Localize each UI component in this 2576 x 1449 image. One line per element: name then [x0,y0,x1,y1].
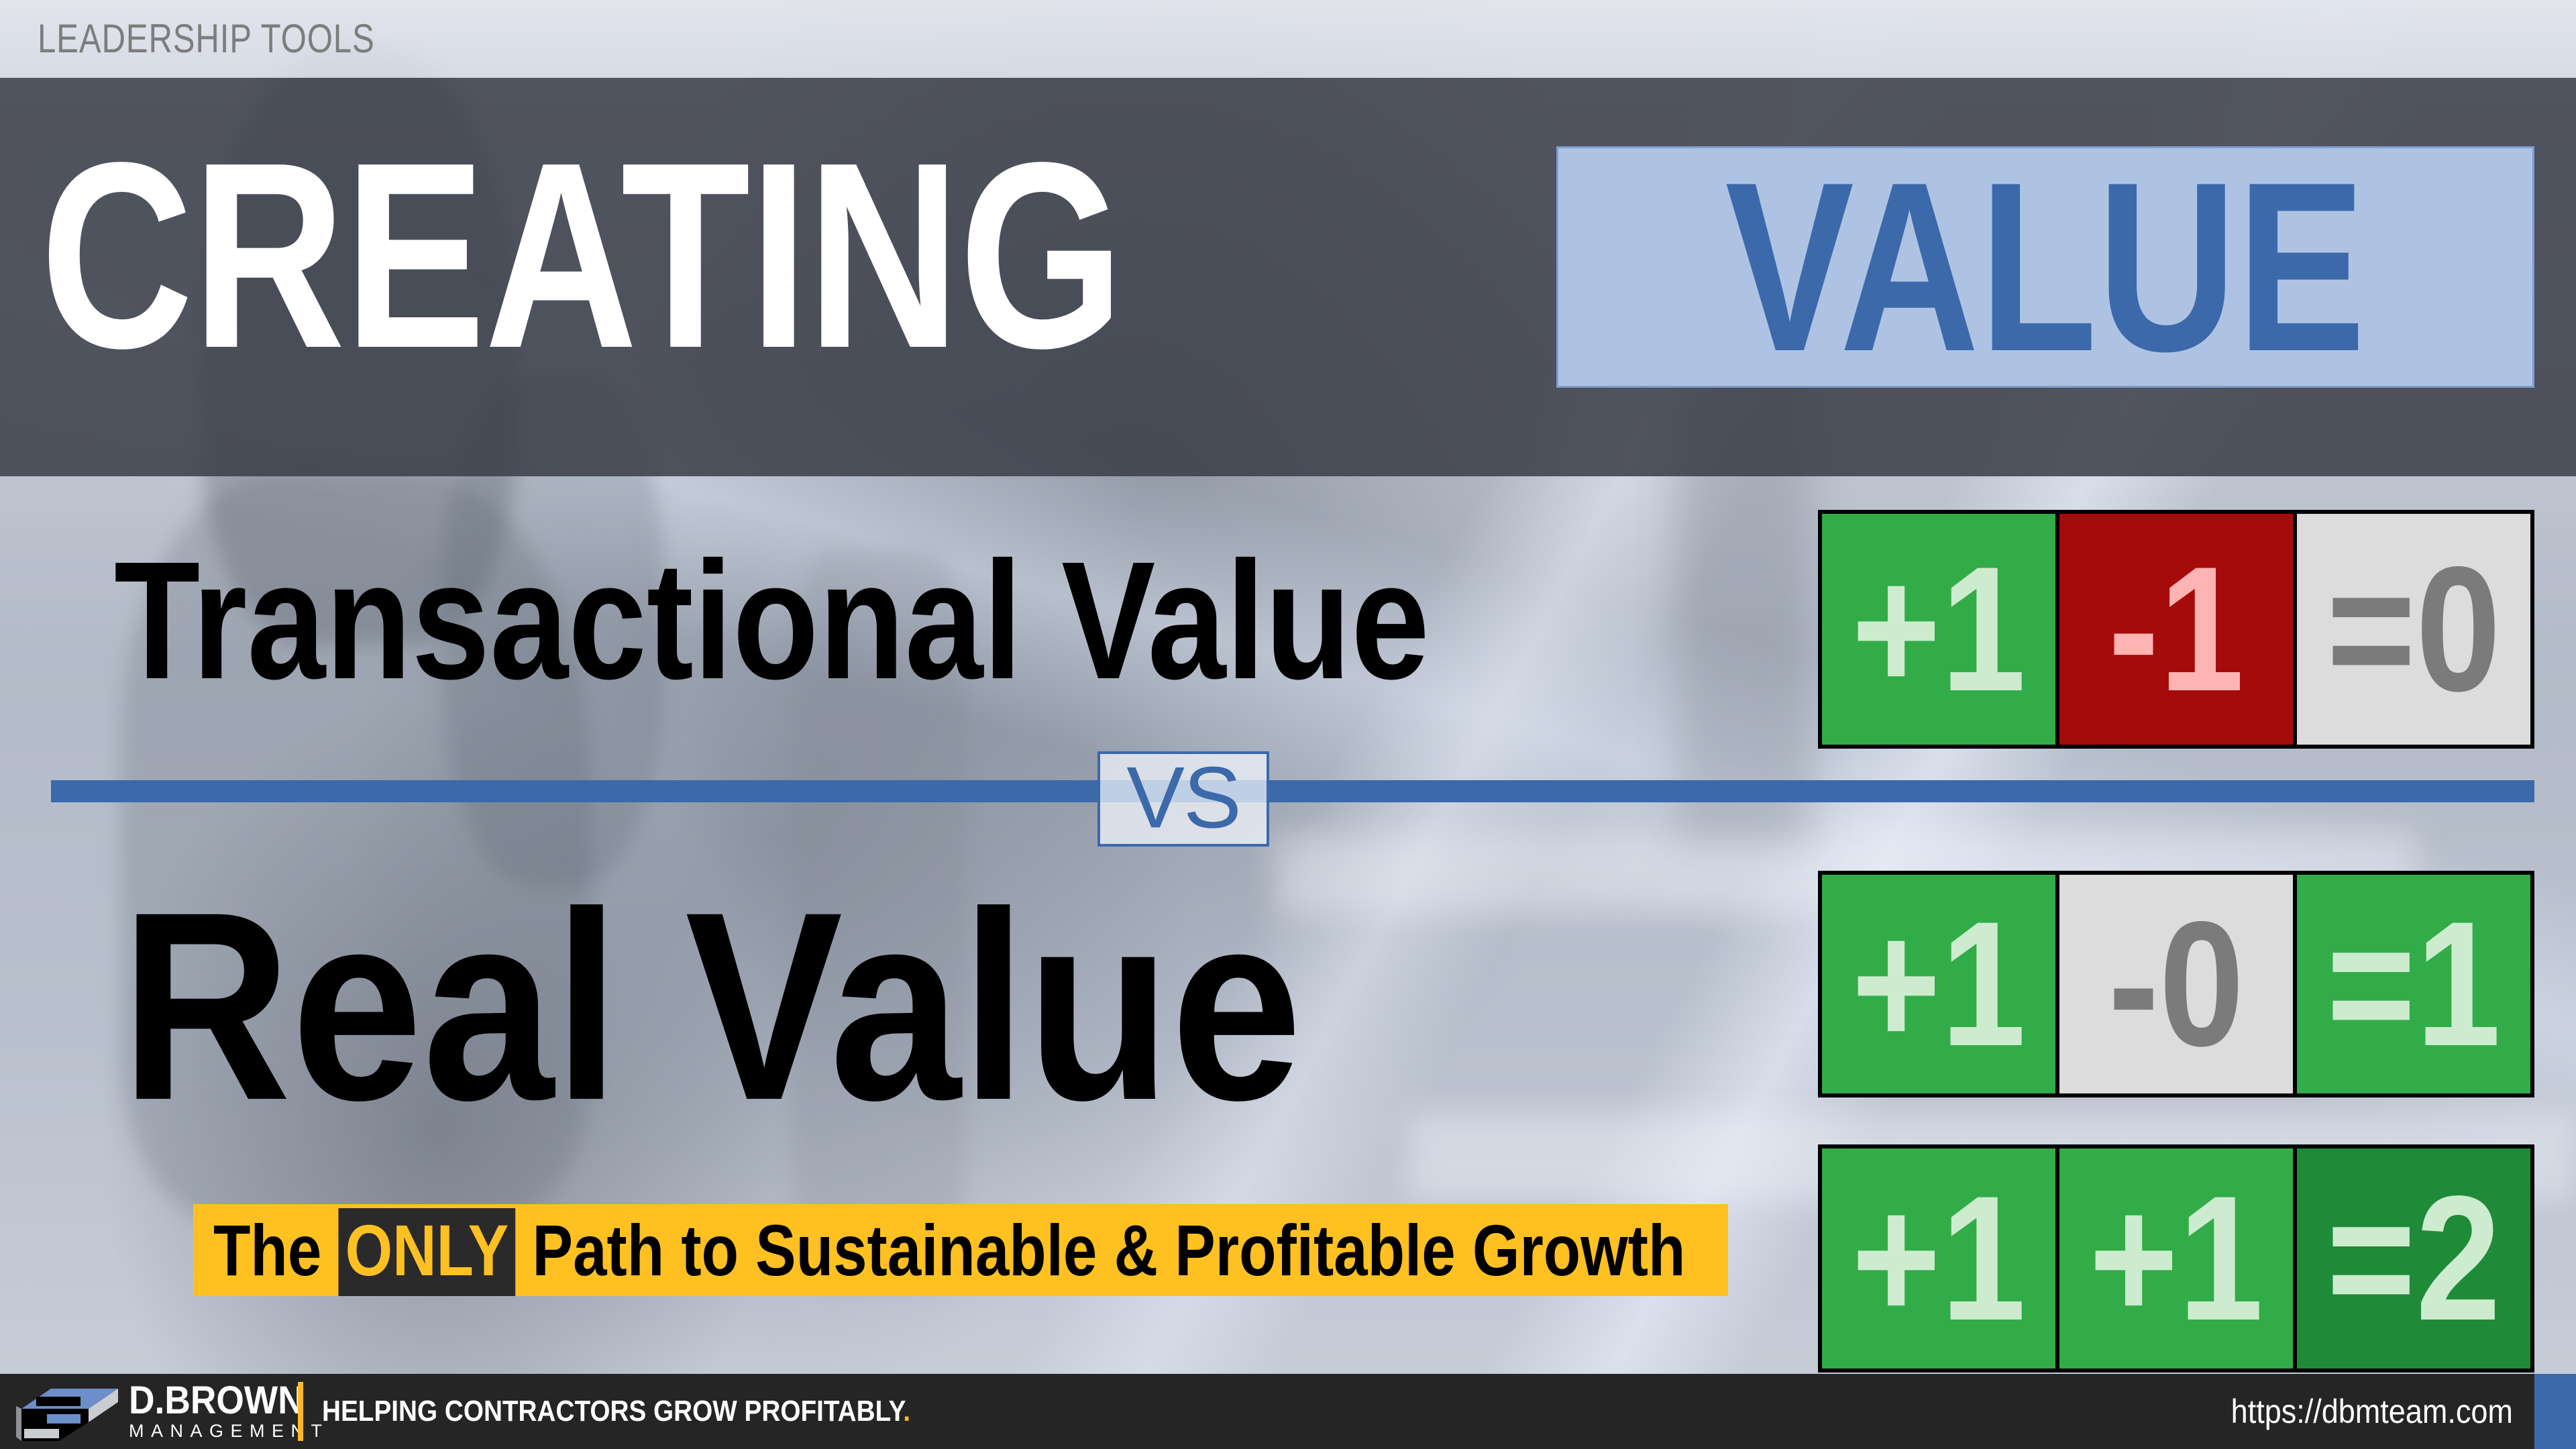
equation-cell-value: =0 [2326,545,2501,713]
footer-accent-cap [2534,1374,2576,1449]
transactional-value-label: Transactional Value [114,537,1430,704]
page-title-highlight-box: VALUE [1556,146,2534,388]
equation-cell-value: =1 [2326,900,2501,1068]
equation-cell: -0 [2059,875,2297,1093]
footer-tagline-dot: . [903,1395,910,1428]
footer-divider [298,1382,303,1441]
comparison-divider-rule [51,780,2534,802]
equation-cell-value: -1 [2108,545,2245,713]
brand-sub: MANAGEMENT [129,1419,343,1442]
transactional-equation-row: +1 -1 =0 [1818,510,2534,749]
kicker-band [0,0,2576,78]
footer-bar: D.BROWN MANAGEMENT HELPING CONTRACTORS G… [0,1374,2576,1449]
page-title-lead: CREATING [40,134,1123,376]
footer-tagline: HELPING CONTRACTORS GROW PROFITABLY. [322,1393,910,1430]
equation-cell: =1 [2297,875,2530,1093]
equation-cell: +1 [2059,1148,2297,1368]
equation-cell: +1 [1822,1148,2059,1368]
vs-badge: VS [1097,751,1269,847]
real-equation-one-row: +1 -0 =1 [1818,871,2534,1097]
real-equation-two-row: +1 +1 =2 [1818,1144,2534,1373]
equation-cell-value: +1 [1851,900,2026,1068]
brand-name: D.BROWN [129,1382,326,1419]
footer-tagline-text: HELPING CONTRACTORS GROW PROFITABLY [322,1395,903,1428]
equation-cell-value: +1 [1851,1175,2026,1342]
vs-badge-label: VS [1126,753,1240,841]
slide-canvas: LEADERSHIP TOOLS CREATING VALUE Transact… [0,0,2576,1449]
equation-cell: =2 [2297,1148,2530,1368]
page-title-highlight: VALUE [1725,156,2366,378]
equation-cell: +1 [1822,875,2059,1093]
equation-cell-value: +1 [1851,545,2026,713]
callout-banner: The ONLY Path to Sustainable & Profitabl… [193,1204,1728,1296]
equation-cell-value: =2 [2326,1175,2501,1342]
dbm-cube-logo-icon [16,1379,123,1444]
equation-cell-value: -0 [2108,900,2245,1068]
kicker-label: LEADERSHIP TOOLS [38,5,375,72]
brand-block: D.BROWN MANAGEMENT [129,1382,343,1442]
callout-prefix: The [213,1210,321,1291]
equation-cell: =0 [2297,514,2530,745]
callout-suffix: Path to Sustainable & Profitable Growth [533,1210,1686,1291]
equation-cell-value: +1 [2089,1175,2263,1342]
equation-cell: +1 [1822,514,2059,745]
real-value-label: Real Value [121,872,1302,1140]
equation-cell: -1 [2059,514,2297,745]
callout-emphasis: ONLY [339,1208,516,1296]
callout-text: The ONLY Path to Sustainable & Profitabl… [213,1214,1685,1287]
footer-url[interactable]: https://dbmteam.com [2231,1391,2513,1432]
